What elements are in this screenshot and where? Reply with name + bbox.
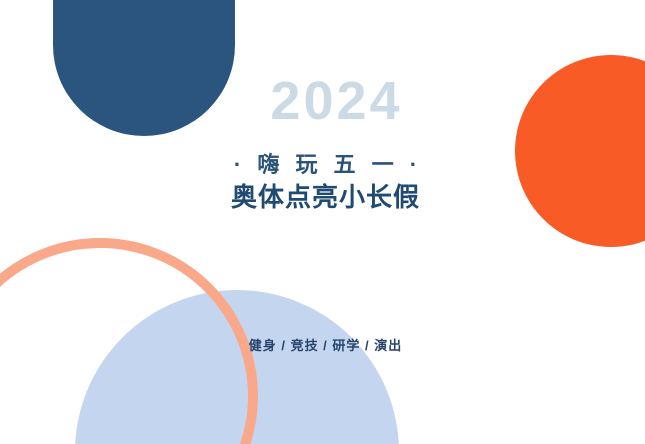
headline-block: · 嗨 玩 五 一 · 奥体点亮小长假: [0, 150, 645, 214]
year-label: 2024: [0, 74, 645, 128]
poster-canvas: 2024 · 嗨 玩 五 一 · 奥体点亮小长假 健身 / 竞技 / 研学 / …: [0, 0, 645, 444]
headline-top-line: · 嗨 玩 五 一 ·: [6, 150, 645, 180]
tagline-label: 健身 / 竞技 / 研学 / 演出: [0, 337, 645, 355]
headline-main-line: 奥体点亮小长假: [6, 180, 645, 214]
poster-content: 2024 · 嗨 玩 五 一 · 奥体点亮小长假 健身 / 竞技 / 研学 / …: [0, 0, 645, 444]
